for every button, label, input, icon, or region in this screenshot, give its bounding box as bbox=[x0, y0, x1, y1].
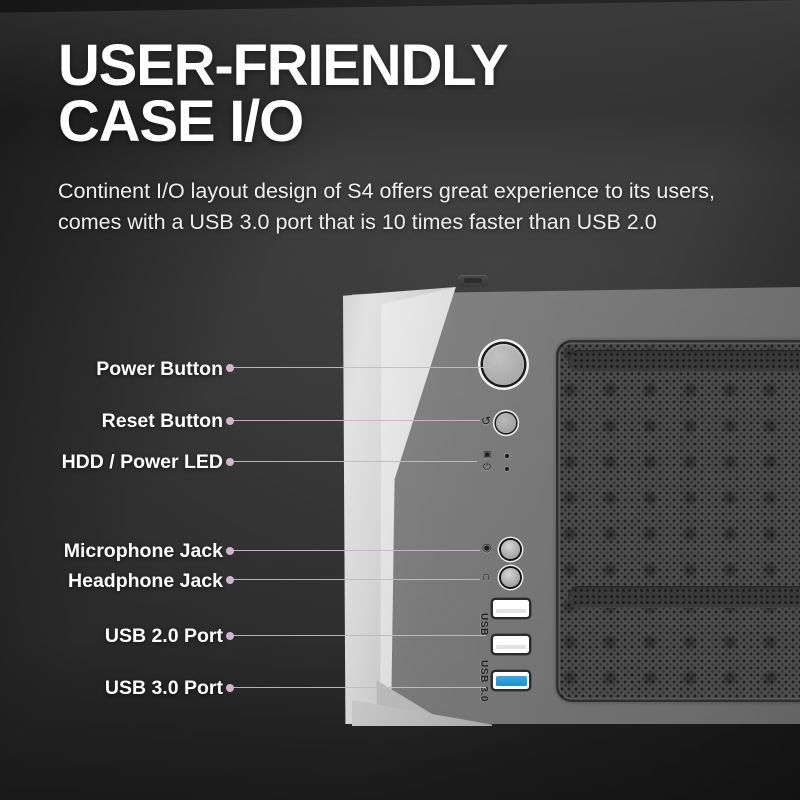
headphone-jack-icon[interactable] bbox=[501, 568, 520, 587]
infographic-canvas: USER-FRIENDLY CASE I/O Continent I/O lay… bbox=[0, 0, 800, 800]
headphone-symbol-icon: ∩ bbox=[482, 570, 491, 582]
leader-line-power-button bbox=[230, 367, 490, 368]
usb-2-port-icon[interactable] bbox=[493, 636, 529, 653]
mesh-slot-dots bbox=[574, 353, 800, 369]
power-led-indicator-icon bbox=[505, 467, 509, 471]
case-mesh-panel bbox=[556, 340, 800, 702]
microphone-symbol-icon: ◉ bbox=[482, 543, 492, 554]
power-led-symbol-icon: ⏻ bbox=[483, 463, 491, 473]
leader-line-usb-2-port bbox=[230, 635, 486, 636]
callout-label-hdd-power-led: HDD / Power LED bbox=[62, 451, 223, 474]
mesh-slot-dots bbox=[574, 589, 800, 605]
callout-label-headphone-jack: Headphone Jack bbox=[68, 570, 223, 593]
leader-line-headphone-jack bbox=[230, 579, 480, 580]
callout-label-power-button: Power Button bbox=[96, 358, 223, 381]
mesh-slot-top bbox=[568, 350, 800, 372]
mesh-moire-overlay bbox=[560, 344, 800, 698]
callout-label-microphone-jack: Microphone Jack bbox=[64, 540, 223, 563]
hdd-led-indicator-icon bbox=[505, 454, 509, 458]
callout-label-usb-2-port: USB 2.0 Port bbox=[105, 625, 223, 648]
usb3-port-marking: USB 3.0 bbox=[478, 660, 489, 702]
callout-label-reset-button: Reset Button bbox=[102, 410, 223, 433]
microphone-jack-icon[interactable] bbox=[501, 540, 520, 559]
callout-label-usb-3-port: USB 3.0 Port bbox=[105, 677, 223, 700]
power-button-icon[interactable] bbox=[483, 344, 524, 385]
usb2-port-marking: USB bbox=[478, 613, 489, 636]
leader-line-microphone-jack bbox=[230, 550, 480, 551]
hdd-led-symbol-icon: ▣ bbox=[483, 450, 492, 459]
reset-symbol-icon: ↺ bbox=[481, 415, 491, 427]
leader-line-hdd-power-led bbox=[230, 461, 477, 462]
leader-line-usb-3-port bbox=[230, 687, 486, 688]
reset-button-icon[interactable] bbox=[496, 413, 516, 433]
leader-line-reset-button bbox=[230, 420, 480, 421]
usb-3-port-icon[interactable] bbox=[493, 672, 529, 689]
usb-2-port-icon[interactable] bbox=[493, 600, 529, 617]
mesh-slot-middle bbox=[568, 586, 800, 608]
